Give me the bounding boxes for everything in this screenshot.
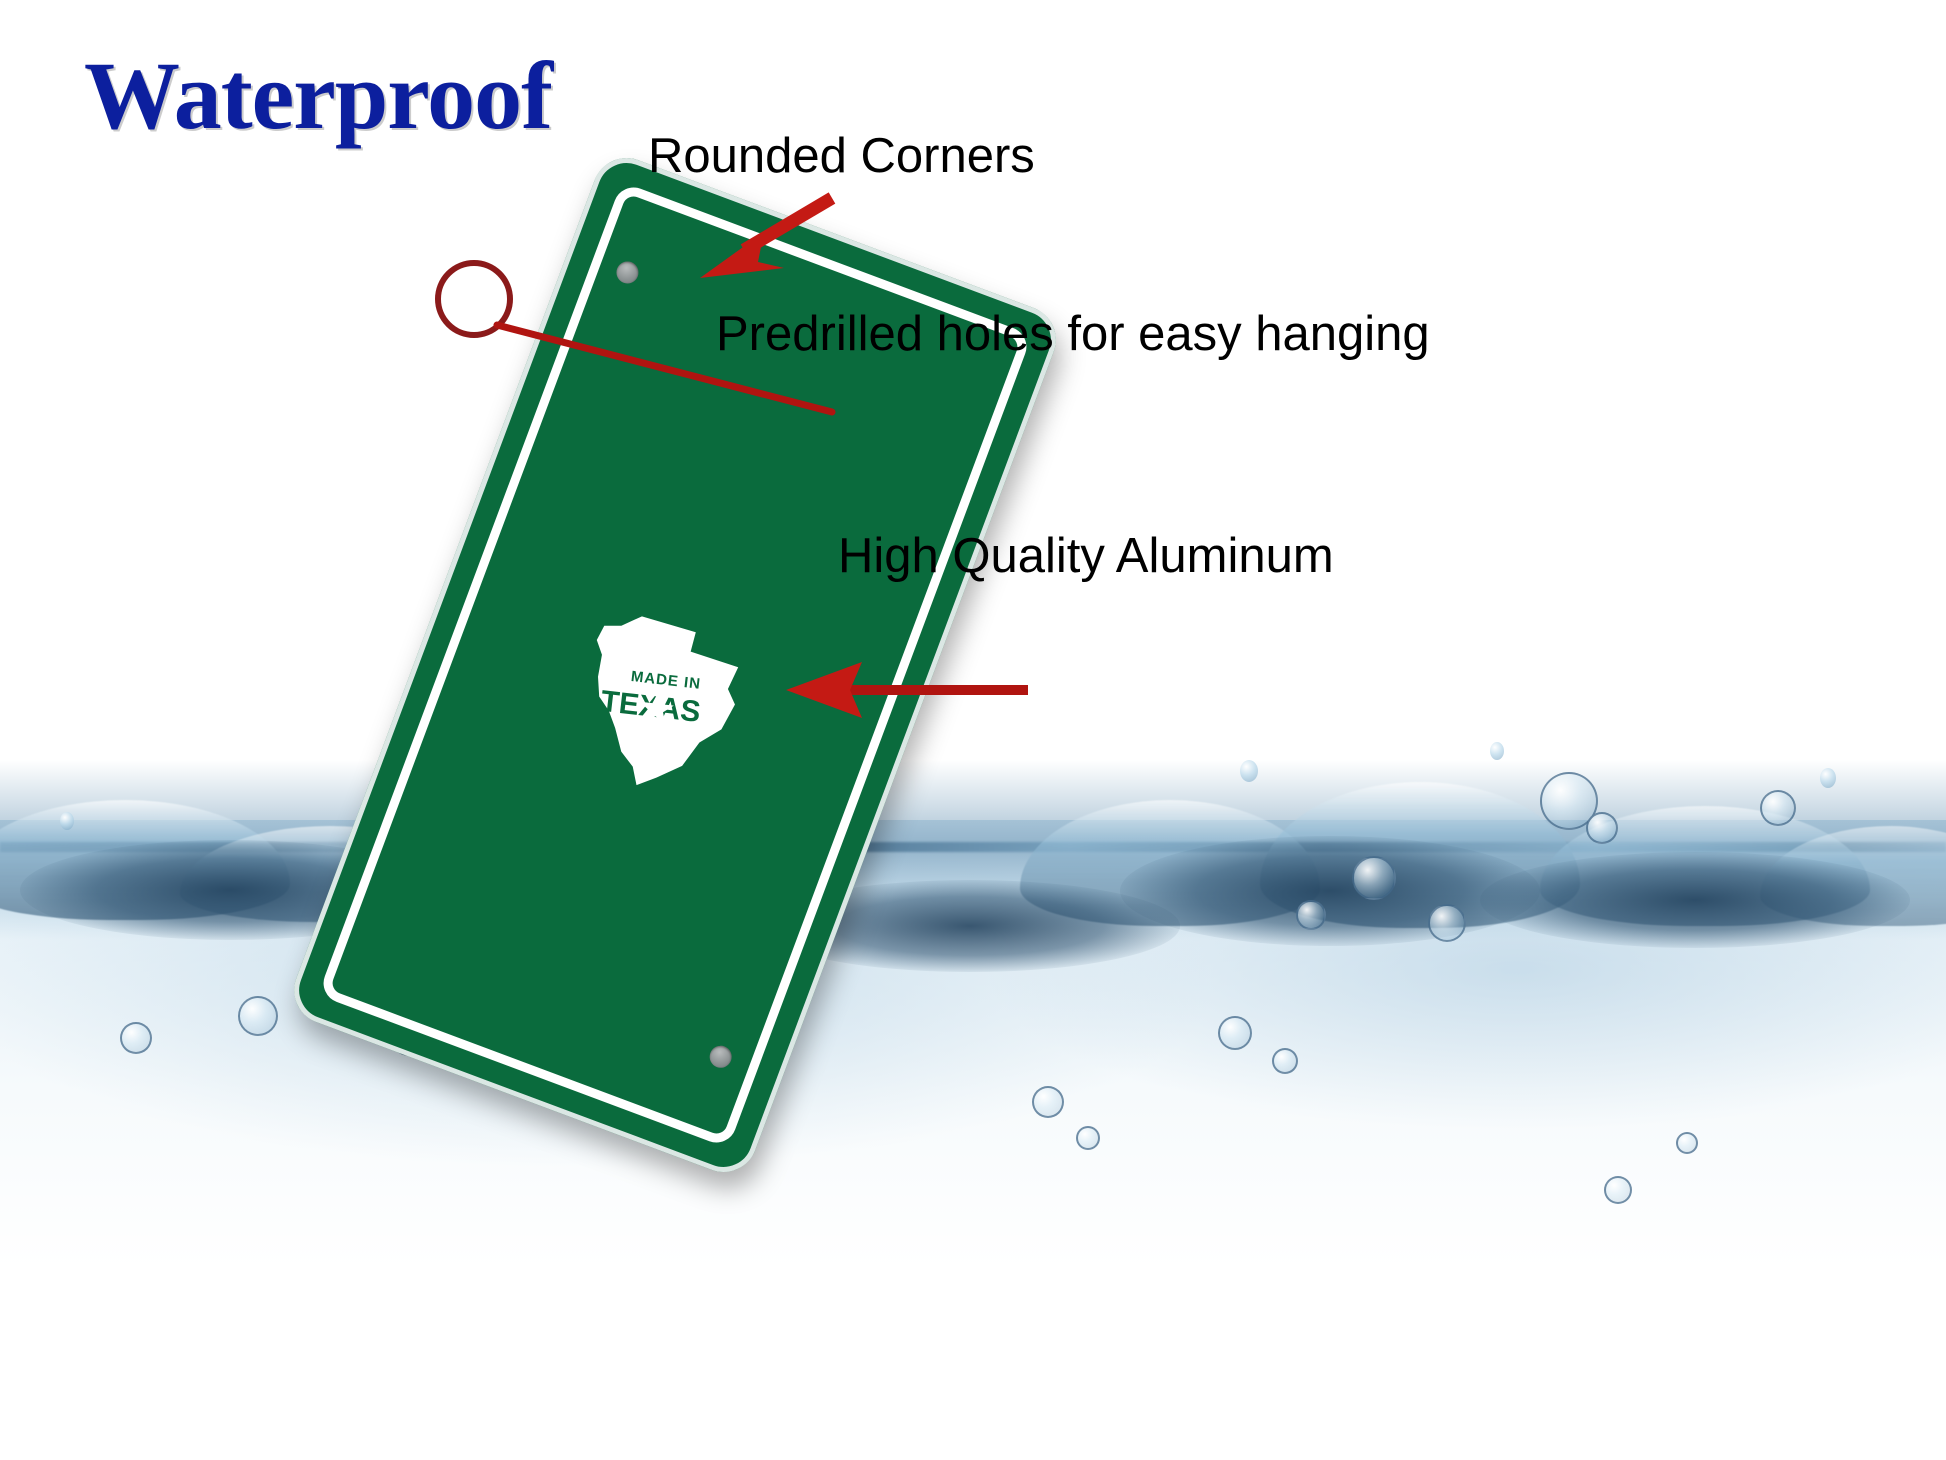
page-title: Waterproof — [84, 48, 552, 144]
water-droplet — [1490, 742, 1504, 760]
water-bubble — [1586, 812, 1618, 844]
water-bubble — [1428, 904, 1466, 942]
water-bubble — [1218, 1016, 1252, 1050]
water-foam — [1480, 852, 1910, 948]
water-bubble — [238, 996, 278, 1036]
water-bubble — [120, 1022, 152, 1054]
water-bubble — [1760, 790, 1796, 826]
water-droplet — [1240, 760, 1258, 782]
water-bubble — [1352, 856, 1396, 900]
water-bubble — [1032, 1086, 1064, 1118]
infographic-canvas: Waterproof MADE IN TEXAS — [0, 0, 1946, 1460]
water-bubble — [1296, 900, 1326, 930]
water-droplet — [1820, 768, 1836, 788]
callout-label-rounded-corners: Rounded Corners — [648, 128, 1035, 184]
callout-label-predrilled-holes: Predrilled holes for easy hanging — [716, 306, 1430, 362]
water-bubble — [1676, 1132, 1698, 1154]
predrilled-hole-circle-icon — [438, 263, 510, 335]
water-bubble — [1272, 1048, 1298, 1074]
water-bubble — [1076, 1126, 1100, 1150]
water-droplet — [60, 812, 74, 830]
water-foam — [1120, 836, 1540, 946]
water-bubble — [1604, 1176, 1632, 1204]
callout-label-high-quality-aluminum: High Quality Aluminum — [838, 528, 1334, 584]
